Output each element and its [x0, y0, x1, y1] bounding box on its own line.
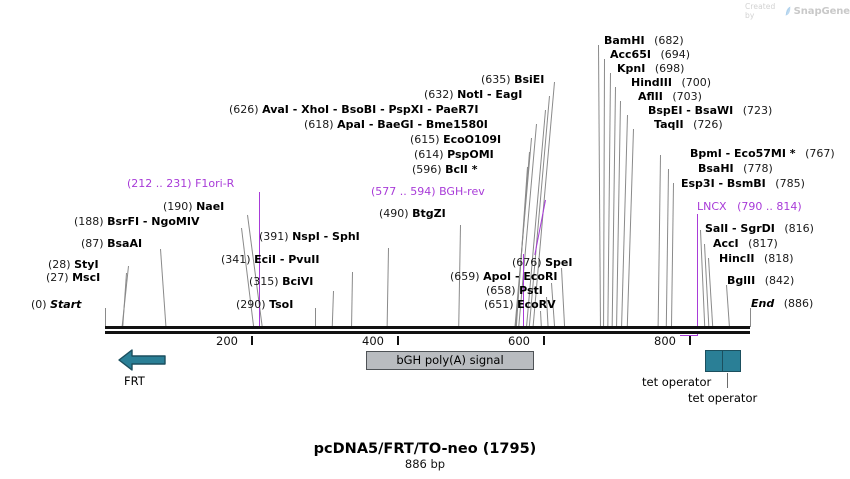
- site-enzyme: End: [751, 297, 774, 310]
- site-label-bamHI: BamHI (682): [604, 35, 684, 46]
- ruler-tick-label-200: 200: [216, 334, 238, 348]
- site-position: (28): [48, 258, 71, 271]
- tet-operator-leader-line: [727, 373, 728, 388]
- site-label-bclI: (596) BclI *: [412, 164, 477, 175]
- site-label-notI-eagI: (632) NotI - EagI: [424, 89, 522, 100]
- site-label-styI: (28) StyI: [48, 259, 99, 270]
- site-position: (658): [486, 284, 516, 297]
- site-label-end: End (886): [751, 298, 813, 309]
- site-enzyme: BciVI: [282, 275, 313, 288]
- site-enzyme: NotI - EagI: [457, 88, 522, 101]
- snapgene-leaf-icon: [785, 6, 791, 17]
- leader-line: [750, 308, 751, 327]
- site-position: (818): [764, 252, 794, 265]
- site-enzyme: ApaI - BaeGI - Bme1580I: [337, 118, 488, 131]
- site-enzyme: BsiEI: [514, 73, 544, 86]
- site-enzyme: BsaAI: [107, 237, 142, 250]
- leader-line: [315, 308, 316, 327]
- site-label-avaI-xhoI-bsoBI-pspXI-paeR7I: (626) AvaI - XhoI - BsoBI - PspXI - PaeR…: [229, 104, 478, 115]
- tet-operator-label-2: tet operator: [688, 391, 757, 405]
- site-label-acc65I: Acc65I (694): [610, 49, 690, 60]
- site-enzyme: SpeI: [545, 256, 572, 269]
- leader-line: [671, 183, 674, 327]
- site-position: (785): [775, 177, 805, 190]
- leader-line: [351, 272, 353, 327]
- watermark-created-by-text: Created by: [745, 2, 782, 20]
- ruler-tick-label-400: 400: [362, 334, 384, 348]
- site-position: (614): [414, 148, 444, 161]
- site-label-bsiEI: (635) BsiEI: [481, 74, 544, 85]
- site-position: (615): [410, 133, 440, 146]
- site-enzyme: HindIII: [631, 76, 672, 89]
- site-position: (698): [655, 62, 685, 75]
- site-label-start: (0) Start: [31, 299, 81, 310]
- site-position: (632): [424, 88, 454, 101]
- tet-operator-label-1: tet operator: [642, 375, 711, 389]
- site-enzyme: NaeI: [196, 200, 224, 213]
- site-label-ecoO109I: (615) EcoO109I: [410, 134, 501, 145]
- site-label-bpmI-eco57MI: BpmI - Eco57MI * (767): [690, 148, 835, 159]
- site-position: (596): [412, 163, 442, 176]
- site-position: (778): [743, 162, 773, 175]
- leader-line: [561, 268, 565, 327]
- site-position: (676): [512, 256, 542, 269]
- site-enzyme: Start: [50, 298, 81, 311]
- site-position: (315): [249, 275, 279, 288]
- site-enzyme: AvaI - XhoI - BsoBI - PspXI - PaeR7I: [262, 103, 478, 116]
- site-label-salI-sgrDI: SalI - SgrDI (816): [705, 223, 814, 234]
- site-label-apaI-baeGI-bme1580I: (618) ApaI - BaeGI - Bme1580I: [304, 119, 488, 130]
- site-position: (723): [743, 104, 773, 117]
- leader-line: [540, 311, 542, 327]
- ruler-tick-400: [397, 336, 399, 345]
- site-enzyme: BglII: [727, 274, 755, 287]
- site-position: (190): [163, 200, 193, 213]
- site-position: (816): [784, 222, 814, 235]
- site-enzyme: PspOMI: [447, 148, 494, 161]
- site-enzyme: TsoI: [269, 298, 293, 311]
- site-enzyme: StyI: [74, 258, 98, 271]
- site-position: (694): [660, 48, 690, 61]
- site-position: (27): [46, 271, 69, 284]
- site-position: (886): [784, 297, 814, 310]
- ruler-tick-200: [251, 336, 253, 345]
- site-enzyme: BsrFI - NgoMIV: [107, 215, 199, 228]
- frt-feature-arrow[interactable]: [118, 348, 166, 372]
- site-enzyme: NspI - SphI: [292, 230, 360, 243]
- leader-line: [332, 291, 334, 327]
- site-label-bspEI-bsaWI: BspEI - BsaWI (723): [648, 105, 772, 116]
- site-label-pstI: (658) PstI: [486, 285, 543, 296]
- leader-line: [658, 155, 661, 327]
- site-label-aflII: AflII (703): [638, 91, 702, 102]
- leader-line: [598, 45, 601, 327]
- site-enzyme: Esp3I - BsmBI: [681, 177, 766, 190]
- site-enzyme: BtgZI: [412, 207, 446, 220]
- site-label-ecoRV: (651) EcoRV: [484, 299, 556, 310]
- site-label-bglII: BglII (842): [727, 275, 794, 286]
- site-label-hindIII: HindIII (700): [631, 77, 711, 88]
- leader-line: [603, 59, 605, 327]
- leader-line: [616, 101, 621, 327]
- site-position: (391): [259, 230, 289, 243]
- primer-label-lncx: LNCX (790 .. 814): [697, 201, 802, 212]
- leader-line: [704, 244, 709, 327]
- site-label-btgZI: (490) BtgZI: [379, 208, 446, 219]
- primer-name: BGH-rev: [439, 185, 485, 198]
- site-position: (817): [748, 237, 778, 250]
- plasmid-map-canvas: Created by SnapGene: [0, 0, 850, 479]
- site-label-eciI-pvuII: (341) EciI - PvuII: [221, 254, 319, 265]
- ruler-tick-800: [689, 336, 691, 345]
- site-enzyme: EcoRV: [517, 298, 556, 311]
- primer-line-lncx: [697, 214, 698, 336]
- site-enzyme: KpnI: [617, 62, 645, 75]
- site-label-accI: AccI (817): [713, 238, 778, 249]
- site-position: (700): [681, 76, 711, 89]
- site-label-taqII: TaqII (726): [654, 119, 723, 130]
- site-position: (651): [484, 298, 514, 311]
- site-position: (341): [221, 253, 251, 266]
- site-position: (490): [379, 207, 409, 220]
- site-enzyme: BsaHI: [698, 162, 734, 175]
- site-enzyme: SalI - SgrDI: [705, 222, 775, 235]
- site-position: (626): [229, 103, 259, 116]
- leader-line: [105, 308, 106, 327]
- site-position: (290): [236, 298, 266, 311]
- site-label-bsaHI: BsaHI (778): [698, 163, 773, 174]
- site-label-pspOMI: (614) PspOMI: [414, 149, 494, 160]
- primer-name: F1ori-R: [195, 177, 234, 190]
- site-label-tsoI: (290) TsoI: [236, 299, 293, 310]
- primer-range: (577 .. 594): [371, 185, 436, 198]
- leader-line: [726, 285, 730, 327]
- site-position: (618): [304, 118, 334, 131]
- site-label-hincII: HincII (818): [719, 253, 794, 264]
- ruler-tick-label-600: 600: [508, 334, 530, 348]
- site-label-naeI: (190) NaeI: [163, 201, 224, 212]
- site-position: (635): [481, 73, 511, 86]
- sequence-ruler-bar: [105, 326, 750, 334]
- site-enzyme: BclI *: [445, 163, 477, 176]
- snapgene-watermark: Created by SnapGene: [745, 2, 850, 20]
- primer-range: (790 .. 814): [737, 200, 802, 213]
- ruler-tick-600: [543, 336, 545, 345]
- site-label-bsrFI-ngoMIV: (188) BsrFI - NgoMIV: [74, 216, 199, 227]
- site-position: (842): [765, 274, 795, 287]
- ruler-tick-label-800: 800: [654, 334, 676, 348]
- site-position: (767): [805, 147, 835, 160]
- bgh-polya-signal-feature[interactable]: bGH poly(A) signal: [366, 351, 534, 370]
- site-enzyme: BspEI - BsaWI: [648, 104, 733, 117]
- site-enzyme: HincII: [719, 252, 755, 265]
- primer-range: (212 .. 231): [127, 177, 192, 190]
- bgh-polya-signal-label: bGH poly(A) signal: [396, 353, 503, 367]
- frt-feature-label: FRT: [124, 374, 145, 388]
- watermark-brand-text: SnapGene: [794, 6, 850, 17]
- site-label-nspI-sphI: (391) NspI - SphI: [259, 231, 360, 242]
- leader-line: [160, 249, 166, 327]
- plasmid-title: pcDNA5/FRT/TO-neo (1795): [0, 441, 850, 457]
- leader-line: [612, 87, 616, 327]
- site-label-apoI-ecoRI: (659) ApoI - EcoRI: [450, 271, 558, 282]
- site-position: (188): [74, 215, 104, 228]
- leader-line: [387, 248, 389, 327]
- site-enzyme: MscI: [72, 271, 100, 284]
- site-enzyme: BamHI: [604, 34, 645, 47]
- site-enzyme: AflII: [638, 90, 663, 103]
- tet-operator-feature-2[interactable]: [722, 350, 741, 372]
- site-position: (87): [81, 237, 104, 250]
- site-position: (682): [654, 34, 684, 47]
- site-enzyme: TaqII: [654, 118, 684, 131]
- site-label-mscI: (27) MscI: [46, 272, 100, 283]
- leader-line: [607, 73, 611, 327]
- site-label-speI: (676) SpeI: [512, 257, 572, 268]
- primer-label-bgh-rev: (577 .. 594) BGH-rev: [371, 186, 485, 197]
- site-position: (0): [31, 298, 47, 311]
- leader-line: [666, 169, 669, 327]
- site-position: (659): [450, 270, 480, 283]
- primer-name: LNCX: [697, 200, 727, 213]
- site-label-esp3I-bsmBI: Esp3I - BsmBI (785): [681, 178, 805, 189]
- site-enzyme: BpmI - Eco57MI *: [690, 147, 796, 160]
- site-enzyme: Acc65I: [610, 48, 651, 61]
- site-enzyme: AccI: [713, 237, 739, 250]
- site-enzyme: ApoI - EcoRI: [483, 270, 557, 283]
- site-label-bsaAI: (87) BsaAI: [81, 238, 142, 249]
- site-label-kpnI: KpnI (698): [617, 63, 684, 74]
- plasmid-length-subtitle: 886 bp: [0, 457, 850, 471]
- site-position: (703): [672, 90, 702, 103]
- primer-label-f1ori-r: (212 .. 231) F1ori-R: [127, 178, 234, 189]
- site-label-bciVI: (315) BciVI: [249, 276, 313, 287]
- site-position: (726): [693, 118, 723, 131]
- site-enzyme: EciI - PvuII: [254, 253, 319, 266]
- site-enzyme: EcoO109I: [443, 133, 501, 146]
- leader-line: [627, 129, 634, 327]
- site-enzyme: PstI: [519, 284, 543, 297]
